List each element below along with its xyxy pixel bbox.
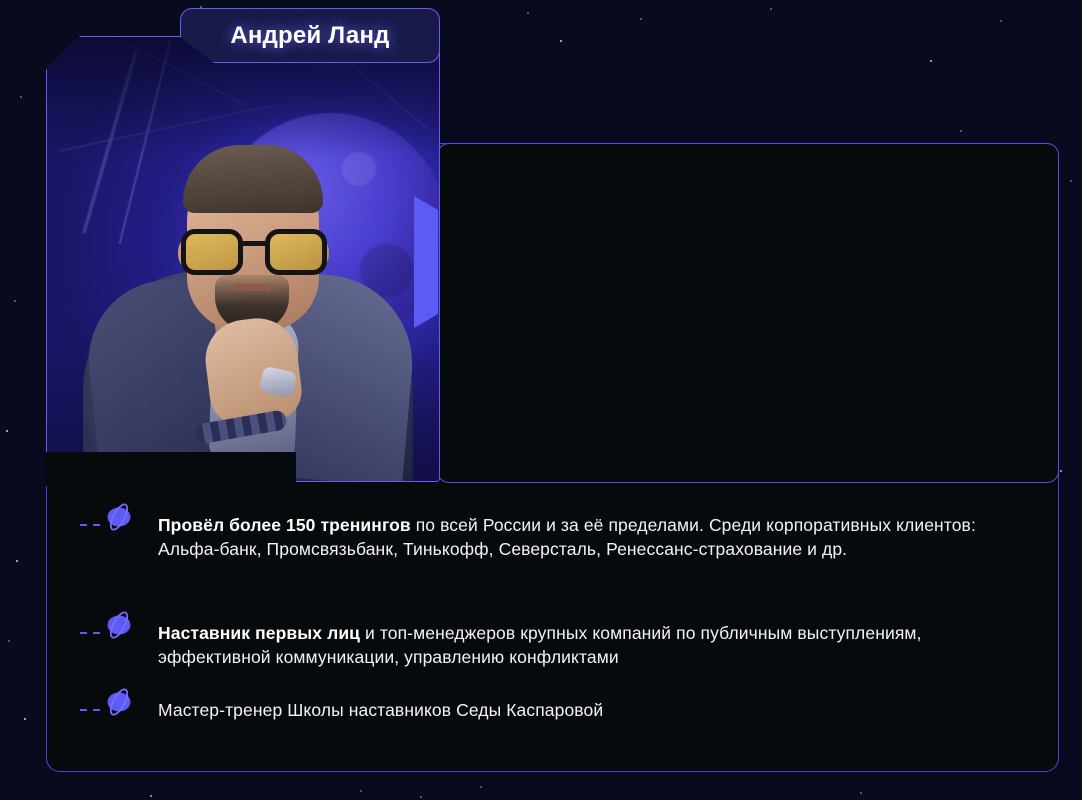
credential-text-bold: Наставник первых лиц (158, 623, 360, 643)
star-icon (1070, 180, 1072, 182)
star-icon (480, 786, 482, 788)
speaker-photo-card (46, 36, 440, 482)
star-icon (930, 60, 932, 62)
speaker-name-badge (180, 8, 440, 63)
star-icon (420, 796, 422, 798)
credential-text-bold: Провёл более 150 тренингов (158, 515, 411, 535)
star-icon (960, 130, 962, 132)
photo-card-notch (46, 452, 296, 486)
glasses-lens-right (265, 229, 327, 275)
star-icon (1060, 470, 1062, 472)
photo-background (47, 37, 439, 481)
star-icon (860, 792, 862, 794)
credential-item: Мастер-тренер Школы наставников Седы Кас… (80, 698, 1038, 722)
star-icon (527, 12, 529, 14)
photo-accent-bar (414, 196, 438, 328)
star-icon (20, 96, 22, 98)
portrait-mouth (233, 284, 271, 291)
planet-icon (102, 687, 136, 722)
star-icon (360, 790, 362, 792)
star-icon (1000, 20, 1002, 22)
star-icon (200, 6, 202, 8)
glasses-lens-left (181, 229, 243, 275)
connector-dashed-line (80, 632, 102, 634)
glasses-bridge (241, 241, 267, 246)
star-icon (770, 8, 772, 10)
credential-text: Провёл более 150 тренингов по всей Росси… (158, 513, 1038, 561)
star-icon (24, 718, 26, 720)
connector-dashed-line (80, 709, 102, 711)
star-icon (560, 40, 562, 42)
star-icon (150, 795, 152, 797)
star-icon (640, 18, 642, 20)
credential-text: Мастер-тренер Школы наставников Седы Кас… (158, 698, 1038, 722)
credentials-panel (437, 143, 1059, 483)
credential-item: Провёл более 150 тренингов по всей Росси… (80, 513, 1038, 561)
credential-text: Наставник первых лиц и топ-менеджеров кр… (158, 621, 1038, 669)
star-icon (16, 560, 18, 562)
planet-icon (102, 610, 136, 645)
star-icon (8, 640, 10, 642)
portrait-hair (183, 145, 323, 213)
star-icon (14, 300, 16, 302)
credential-item: Наставник первых лиц и топ-менеджеров кр… (80, 621, 1038, 669)
speaker-portrait (83, 81, 413, 481)
slide-stage: Андрей Ланд Тренер тренеров, тренер-мето… (0, 0, 1082, 800)
planet-icon (102, 502, 136, 537)
star-icon (6, 430, 8, 432)
connector-dashed-line (80, 524, 102, 526)
glasses-icon (181, 229, 327, 275)
